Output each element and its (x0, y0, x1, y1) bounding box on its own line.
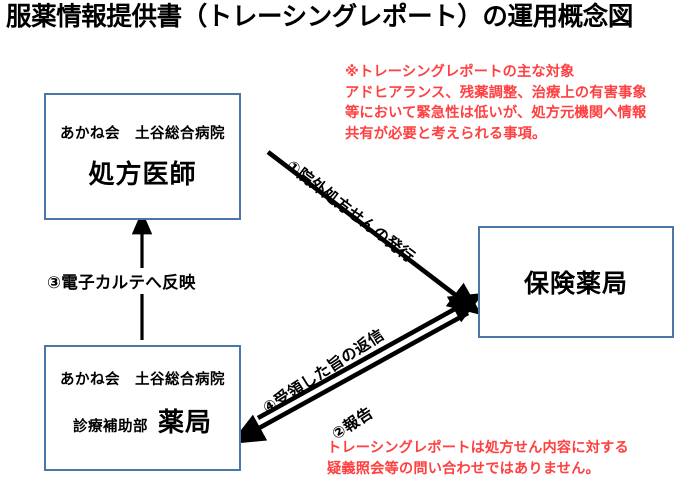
node-hospital-pharmacy-titleline: 診療補助部 薬局 (73, 402, 212, 449)
arrow-label-step1: ①院外処方せんの発行 (282, 154, 420, 267)
note-scope-of-tracing-report: ※トレーシングレポートの主な対象 アドヒアランス、残薬調整、治療上の有害事象 等… (345, 62, 695, 144)
note-not-an-inquiry: トレーシングレポートは処方せん内容に対する 疑義照会等の問い合わせではありません… (327, 438, 697, 479)
node-hospital-pharmacy-title: 薬局 (158, 402, 212, 439)
node-hospital-pharmacy[interactable]: あかね会 土谷総合病院 診療補助部 薬局 (44, 345, 241, 471)
node-prescribing-doctor[interactable]: あかね会 土谷総合病院 処方医師 (44, 93, 241, 220)
diagram-canvas: 服薬情報提供書（トレーシングレポート）の運用概念図 あかね会 土谷総合病院 処方… (0, 0, 700, 487)
page-title: 服薬情報提供書（トレーシングレポート）の運用概念図 (6, 3, 696, 32)
arrow-label-step3: ③電子カルテへ反映 (45, 268, 198, 294)
node-insurance-pharmacy[interactable]: 保険薬局 (478, 226, 674, 338)
node-doctor-title: 処方医師 (88, 154, 196, 191)
node-hospital-pharmacy-dept: 診療補助部 (73, 415, 148, 436)
node-insurance-pharmacy-title: 保険薬局 (524, 264, 628, 300)
node-doctor-subtitle: あかね会 土谷総合病院 (60, 122, 225, 143)
arrow-label-step4: ④受領した旨の返信 (258, 323, 388, 418)
node-hospital-pharmacy-subtitle: あかね会 土谷総合病院 (60, 368, 225, 389)
